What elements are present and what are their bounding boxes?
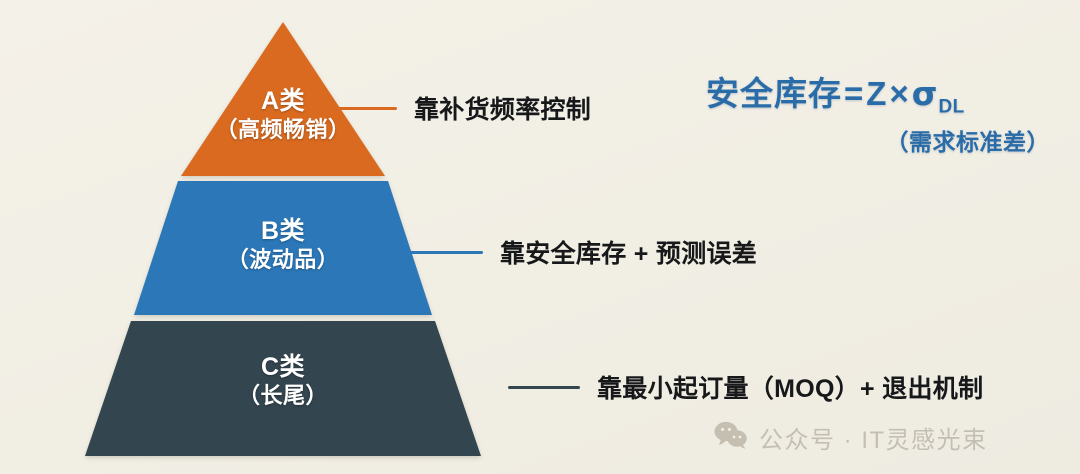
formula-caption: （需求标准差）: [706, 123, 1056, 157]
formula-times-icon: ×: [887, 75, 911, 112]
annotation-tier-b: 靠安全库存 + 预测误差: [407, 234, 757, 270]
formula-subscript: DL: [938, 97, 964, 118]
watermark-text: 公众号 · IT灵感光束: [759, 420, 988, 455]
annotation-tier-c-text: 靠最小起订量（MOQ）+ 退出机制: [597, 369, 983, 405]
watermark: 公众号 · IT灵感光束: [714, 420, 988, 455]
annotation-tier-c: 靠最小起订量（MOQ）+ 退出机制: [508, 369, 983, 405]
formula-expression: 安全库存=Z×σDL: [706, 74, 1056, 119]
formula-lhs: 安全库存: [706, 75, 842, 112]
connector-line-b-icon: [407, 251, 483, 254]
formula-z: Z: [866, 75, 887, 112]
infographic-canvas: A类 （高频畅销） B类 （波动品） C类 （长尾） 靠补货频率控制 靠安全库存…: [0, 0, 1080, 474]
annotation-tier-a-text: 靠补货频率控制: [414, 90, 591, 126]
safety-stock-formula: 安全库存=Z×σDL （需求标准差）: [706, 74, 1056, 157]
wechat-icon: [714, 421, 748, 454]
formula-sigma: σ: [912, 74, 939, 113]
annotation-tier-b-text: 靠安全库存 + 预测误差: [500, 234, 757, 270]
formula-equals: =: [842, 75, 866, 112]
annotation-tier-a: 靠补货频率控制: [323, 90, 591, 126]
connector-line-a-icon: [323, 107, 397, 110]
connector-line-c-icon: [508, 386, 580, 389]
